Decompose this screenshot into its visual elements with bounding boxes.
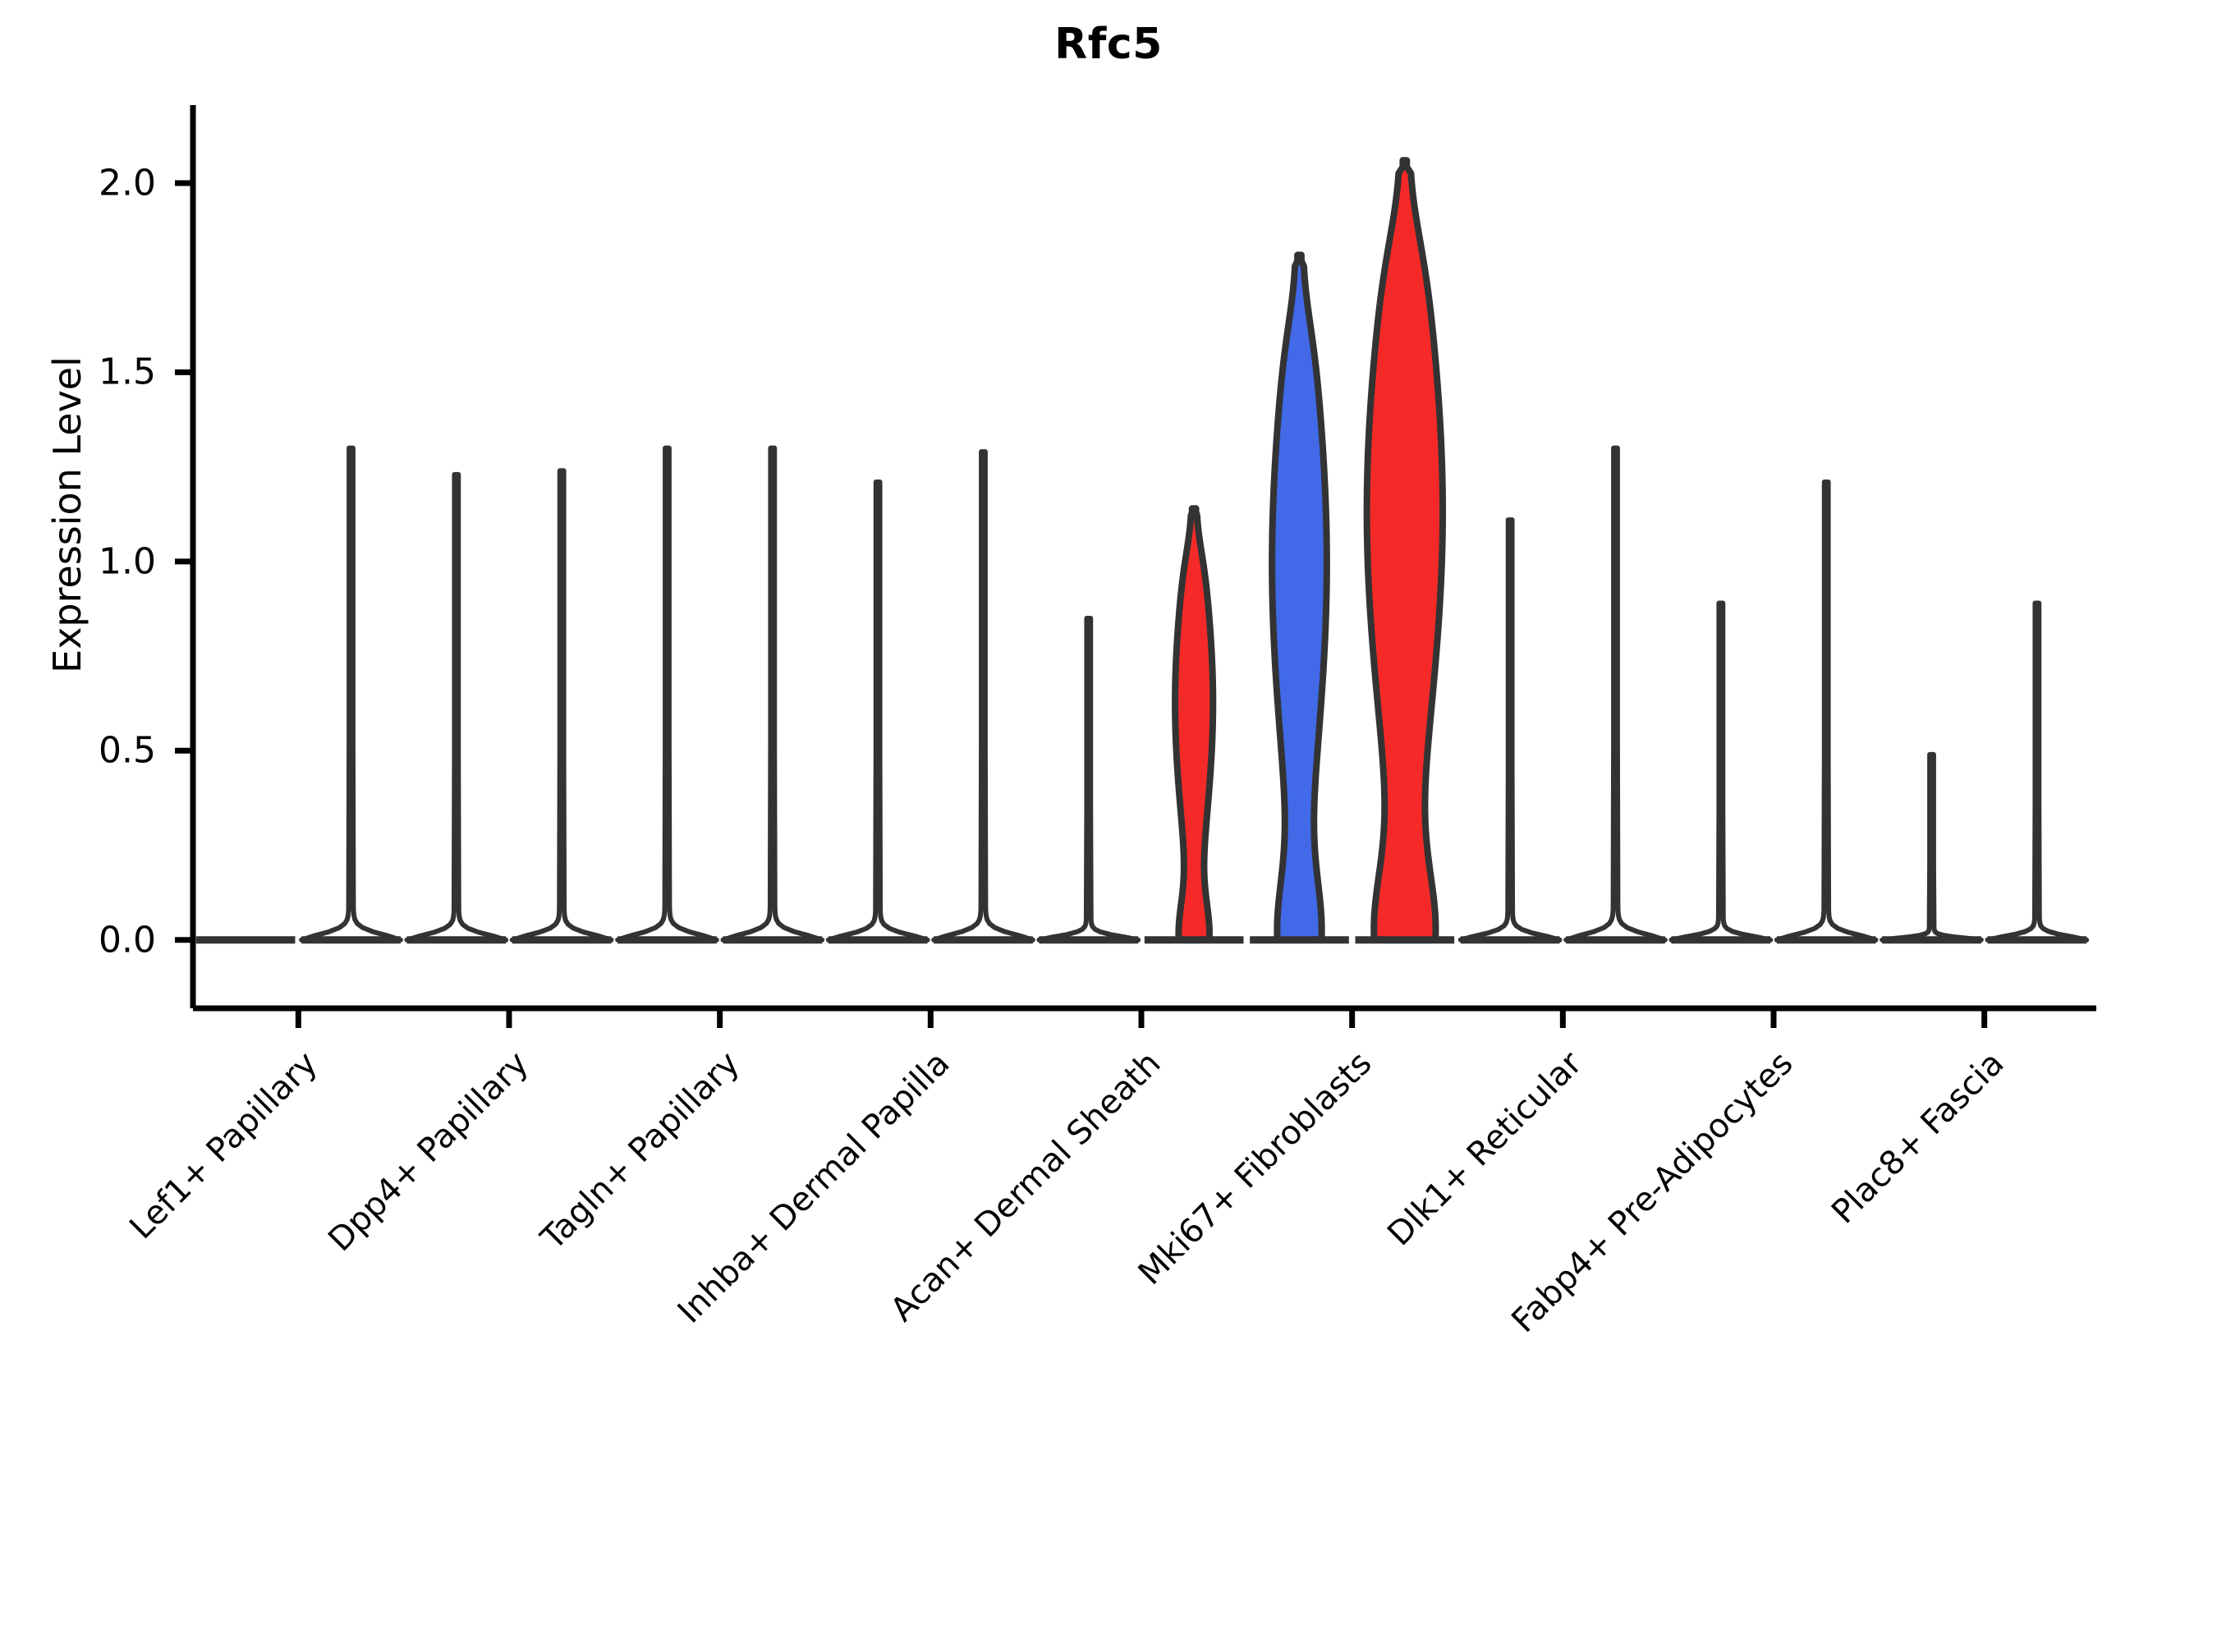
- violin-4: [512, 470, 612, 939]
- violin-14: [1566, 448, 1665, 940]
- violin-body-outline: [1672, 603, 1771, 940]
- plot-axes: [193, 105, 2096, 1008]
- violin-body-outline: [1566, 448, 1665, 940]
- violin-body-outline: [1040, 618, 1139, 940]
- violin-10: [1145, 508, 1244, 939]
- violin-17: [1882, 755, 1981, 940]
- violin-body-filled: [1272, 255, 1327, 940]
- violin-15: [1672, 603, 1771, 940]
- violin-18: [1988, 603, 2087, 940]
- violin-body-outline: [1882, 755, 1981, 940]
- violin-body-outline: [1461, 520, 1560, 940]
- violin-body-outline: [512, 470, 612, 939]
- violin-13: [1461, 520, 1560, 940]
- violin-2: [301, 448, 401, 940]
- violin-12: [1356, 160, 1455, 939]
- violin-body-outline: [1777, 482, 1876, 940]
- violin-body-outline: [934, 452, 1033, 940]
- violin-body-filled: [1367, 160, 1443, 939]
- violin-9: [1040, 618, 1139, 940]
- violin-body-outline: [1988, 603, 2087, 940]
- axis-ticks: [175, 183, 1985, 1028]
- violin-3: [407, 475, 507, 940]
- violin-body-outline: [301, 448, 401, 940]
- violin-body-outline: [723, 448, 823, 940]
- violin-body-outline: [407, 475, 507, 940]
- violin-body-outline: [617, 448, 717, 940]
- violin-series: [196, 160, 2086, 939]
- violin-7: [829, 482, 928, 940]
- violin-11: [1250, 255, 1349, 940]
- violin-body-outline: [829, 482, 928, 940]
- violin-16: [1777, 482, 1876, 940]
- violin-plot-figure: Rfc5 Expression Level 0.00.51.01.52.0 Le…: [0, 0, 2217, 1478]
- violin-body-filled: [1175, 508, 1213, 939]
- violin-8: [934, 452, 1033, 940]
- violin-5: [617, 448, 717, 940]
- violin-6: [723, 448, 823, 940]
